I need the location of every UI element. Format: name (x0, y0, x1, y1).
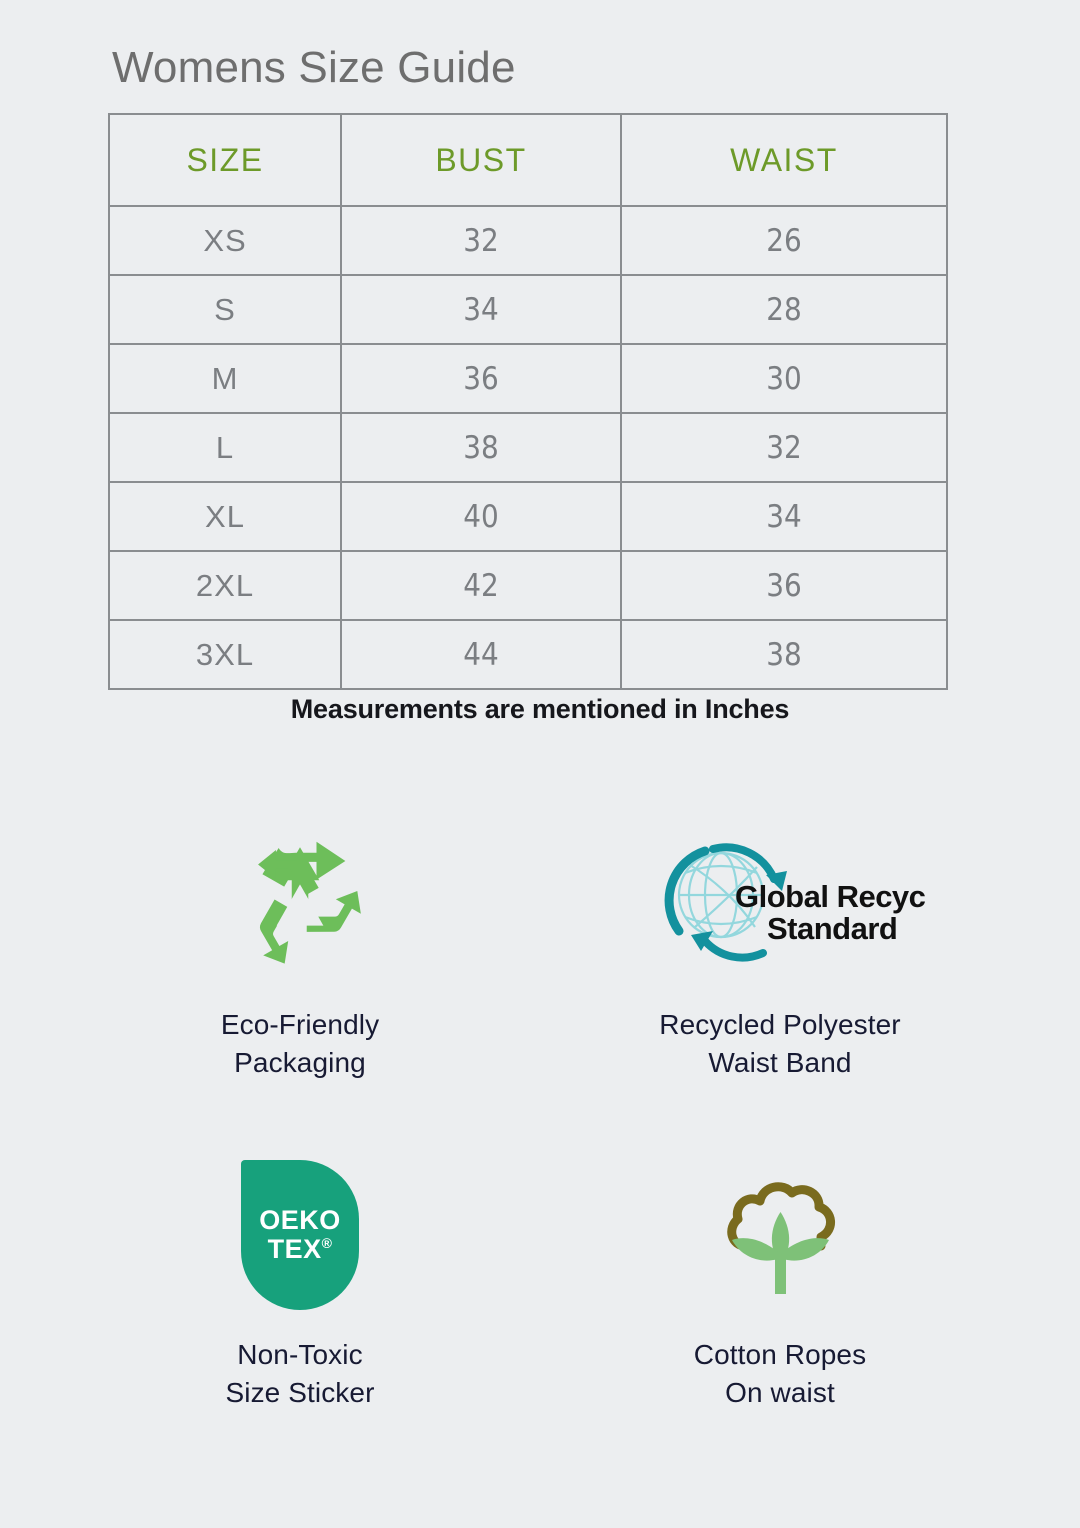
cell-size: 2XL (109, 551, 341, 620)
feature-label: Non-Toxic Size Sticker (225, 1336, 374, 1412)
cell-bust: 44 (341, 620, 621, 689)
cell-size: S (109, 275, 341, 344)
cell-waist: 34 (621, 482, 947, 551)
feature-grid: Eco-Friendly Packaging (60, 830, 1020, 1490)
cell-bust: 38 (341, 413, 621, 482)
feature-label-line2: On waist (725, 1377, 835, 1408)
feature-label-line1: Non-Toxic (237, 1339, 362, 1370)
feature-label-line1: Cotton Ropes (694, 1339, 866, 1370)
cell-waist: 32 (621, 413, 947, 482)
cell-size: L (109, 413, 341, 482)
oeko-tex-text: TEX (268, 1234, 322, 1264)
cell-bust: 36 (341, 344, 621, 413)
column-header-bust: BUST (341, 114, 621, 206)
registered-trademark-icon: ® (322, 1235, 333, 1251)
feature-label: Cotton Ropes On waist (694, 1336, 866, 1412)
table-caption: Measurements are mentioned in Inches (0, 694, 1080, 725)
cell-waist: 26 (621, 206, 947, 275)
feature-recycled-polyester-waist-band: Global Recycled Standard Recycled Polyes… (540, 830, 1020, 1160)
cell-size: XS (109, 206, 341, 275)
cell-waist: 36 (621, 551, 947, 620)
feature-label-line2: Waist Band (708, 1047, 851, 1078)
oeko-tex-line2: TEX® (268, 1235, 333, 1264)
cell-bust: 32 (341, 206, 621, 275)
grs-logo-line1: Global Recycled (735, 879, 925, 914)
feature-non-toxic-size-sticker: OEKO TEX® Non-Toxic Size Sticker (60, 1160, 540, 1490)
cell-bust: 40 (341, 482, 621, 551)
oeko-tex-line1: OEKO (259, 1206, 341, 1235)
feature-label-line2: Packaging (234, 1047, 366, 1078)
table-row: XL 40 34 (109, 482, 947, 551)
feature-label-line1: Recycled Polyester (659, 1009, 900, 1040)
table-row: 2XL 42 36 (109, 551, 947, 620)
table-row: S 34 28 (109, 275, 947, 344)
feature-cotton-ropes-on-waist: Cotton Ropes On waist (540, 1160, 1020, 1490)
cell-bust: 34 (341, 275, 621, 344)
grs-logo-line2: Standard (767, 911, 897, 946)
table-row: XS 32 26 (109, 206, 947, 275)
table-row: 3XL 44 38 (109, 620, 947, 689)
feature-label-line2: Size Sticker (225, 1377, 374, 1408)
column-header-size: SIZE (109, 114, 341, 206)
cell-size: 3XL (109, 620, 341, 689)
feature-label-line1: Eco-Friendly (221, 1009, 379, 1040)
column-header-waist: WAIST (621, 114, 947, 206)
cotton-boll-icon (705, 1160, 855, 1310)
feature-label: Eco-Friendly Packaging (221, 1006, 379, 1082)
cell-waist: 38 (621, 620, 947, 689)
cell-waist: 28 (621, 275, 947, 344)
table-header-row: SIZE BUST WAIST (109, 114, 947, 206)
recycle-icon (230, 830, 370, 980)
global-recycled-standard-logo: Global Recycled Standard (635, 830, 925, 980)
feature-label: Recycled Polyester Waist Band (659, 1006, 900, 1082)
cell-size: M (109, 344, 341, 413)
page-title: Womens Size Guide (112, 44, 516, 92)
oeko-tex-badge-icon: OEKO TEX® (241, 1160, 359, 1310)
cell-waist: 30 (621, 344, 947, 413)
cell-bust: 42 (341, 551, 621, 620)
table-row: M 36 30 (109, 344, 947, 413)
oeko-tex-droplet: OEKO TEX® (241, 1160, 359, 1310)
cell-size: XL (109, 482, 341, 551)
feature-eco-friendly-packaging: Eco-Friendly Packaging (60, 830, 540, 1160)
size-guide-table: SIZE BUST WAIST XS 32 26 S 34 28 M 36 30… (108, 113, 948, 690)
table-row: L 38 32 (109, 413, 947, 482)
